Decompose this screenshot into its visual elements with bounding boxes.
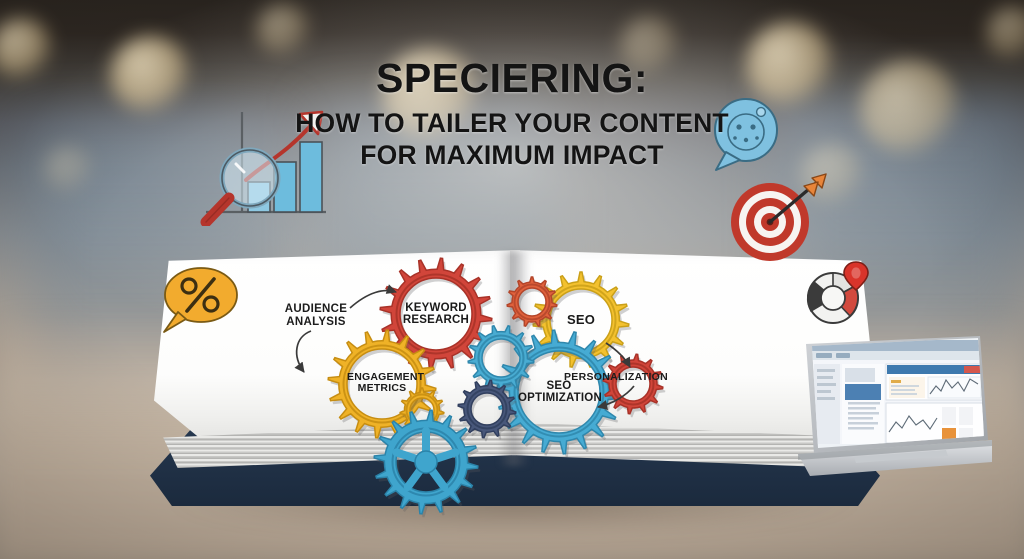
page-title: SPECIERING: <box>0 58 1024 99</box>
target-arrow-icon <box>726 172 832 266</box>
laptop-analytics-dashboard <box>796 336 992 486</box>
page-subtitle-2: FOR MAXIMUM IMPACT <box>0 140 1024 171</box>
gear-cluster: KEYWORDRESEARCHENGAGEMENTMETRICSSEOSEOOP… <box>296 252 744 462</box>
donut-chart-pin-icon <box>798 254 878 332</box>
headline-block: SPECIERING: HOW TO TAILER YOUR CONTENT F… <box>0 58 1024 170</box>
flow-label-personalization: PERSONALIZATION <box>551 372 681 384</box>
page-subtitle-1: HOW TO TAILER YOUR CONTENT <box>0 108 1024 139</box>
flow-label-audience-analysis-line2: ANALYSIS <box>251 316 381 329</box>
flow-label-audience-analysis: AUDIENCEANALYSIS <box>251 303 381 328</box>
gear-gear-red-small <box>603 354 665 417</box>
gear-cluster-svg <box>296 252 744 552</box>
laptop-svg <box>796 336 992 486</box>
infographic-canvas: SPECIERING: HOW TO TAILER YOUR CONTENT F… <box>0 0 1024 559</box>
percent-speech-bubble-icon <box>156 262 242 342</box>
